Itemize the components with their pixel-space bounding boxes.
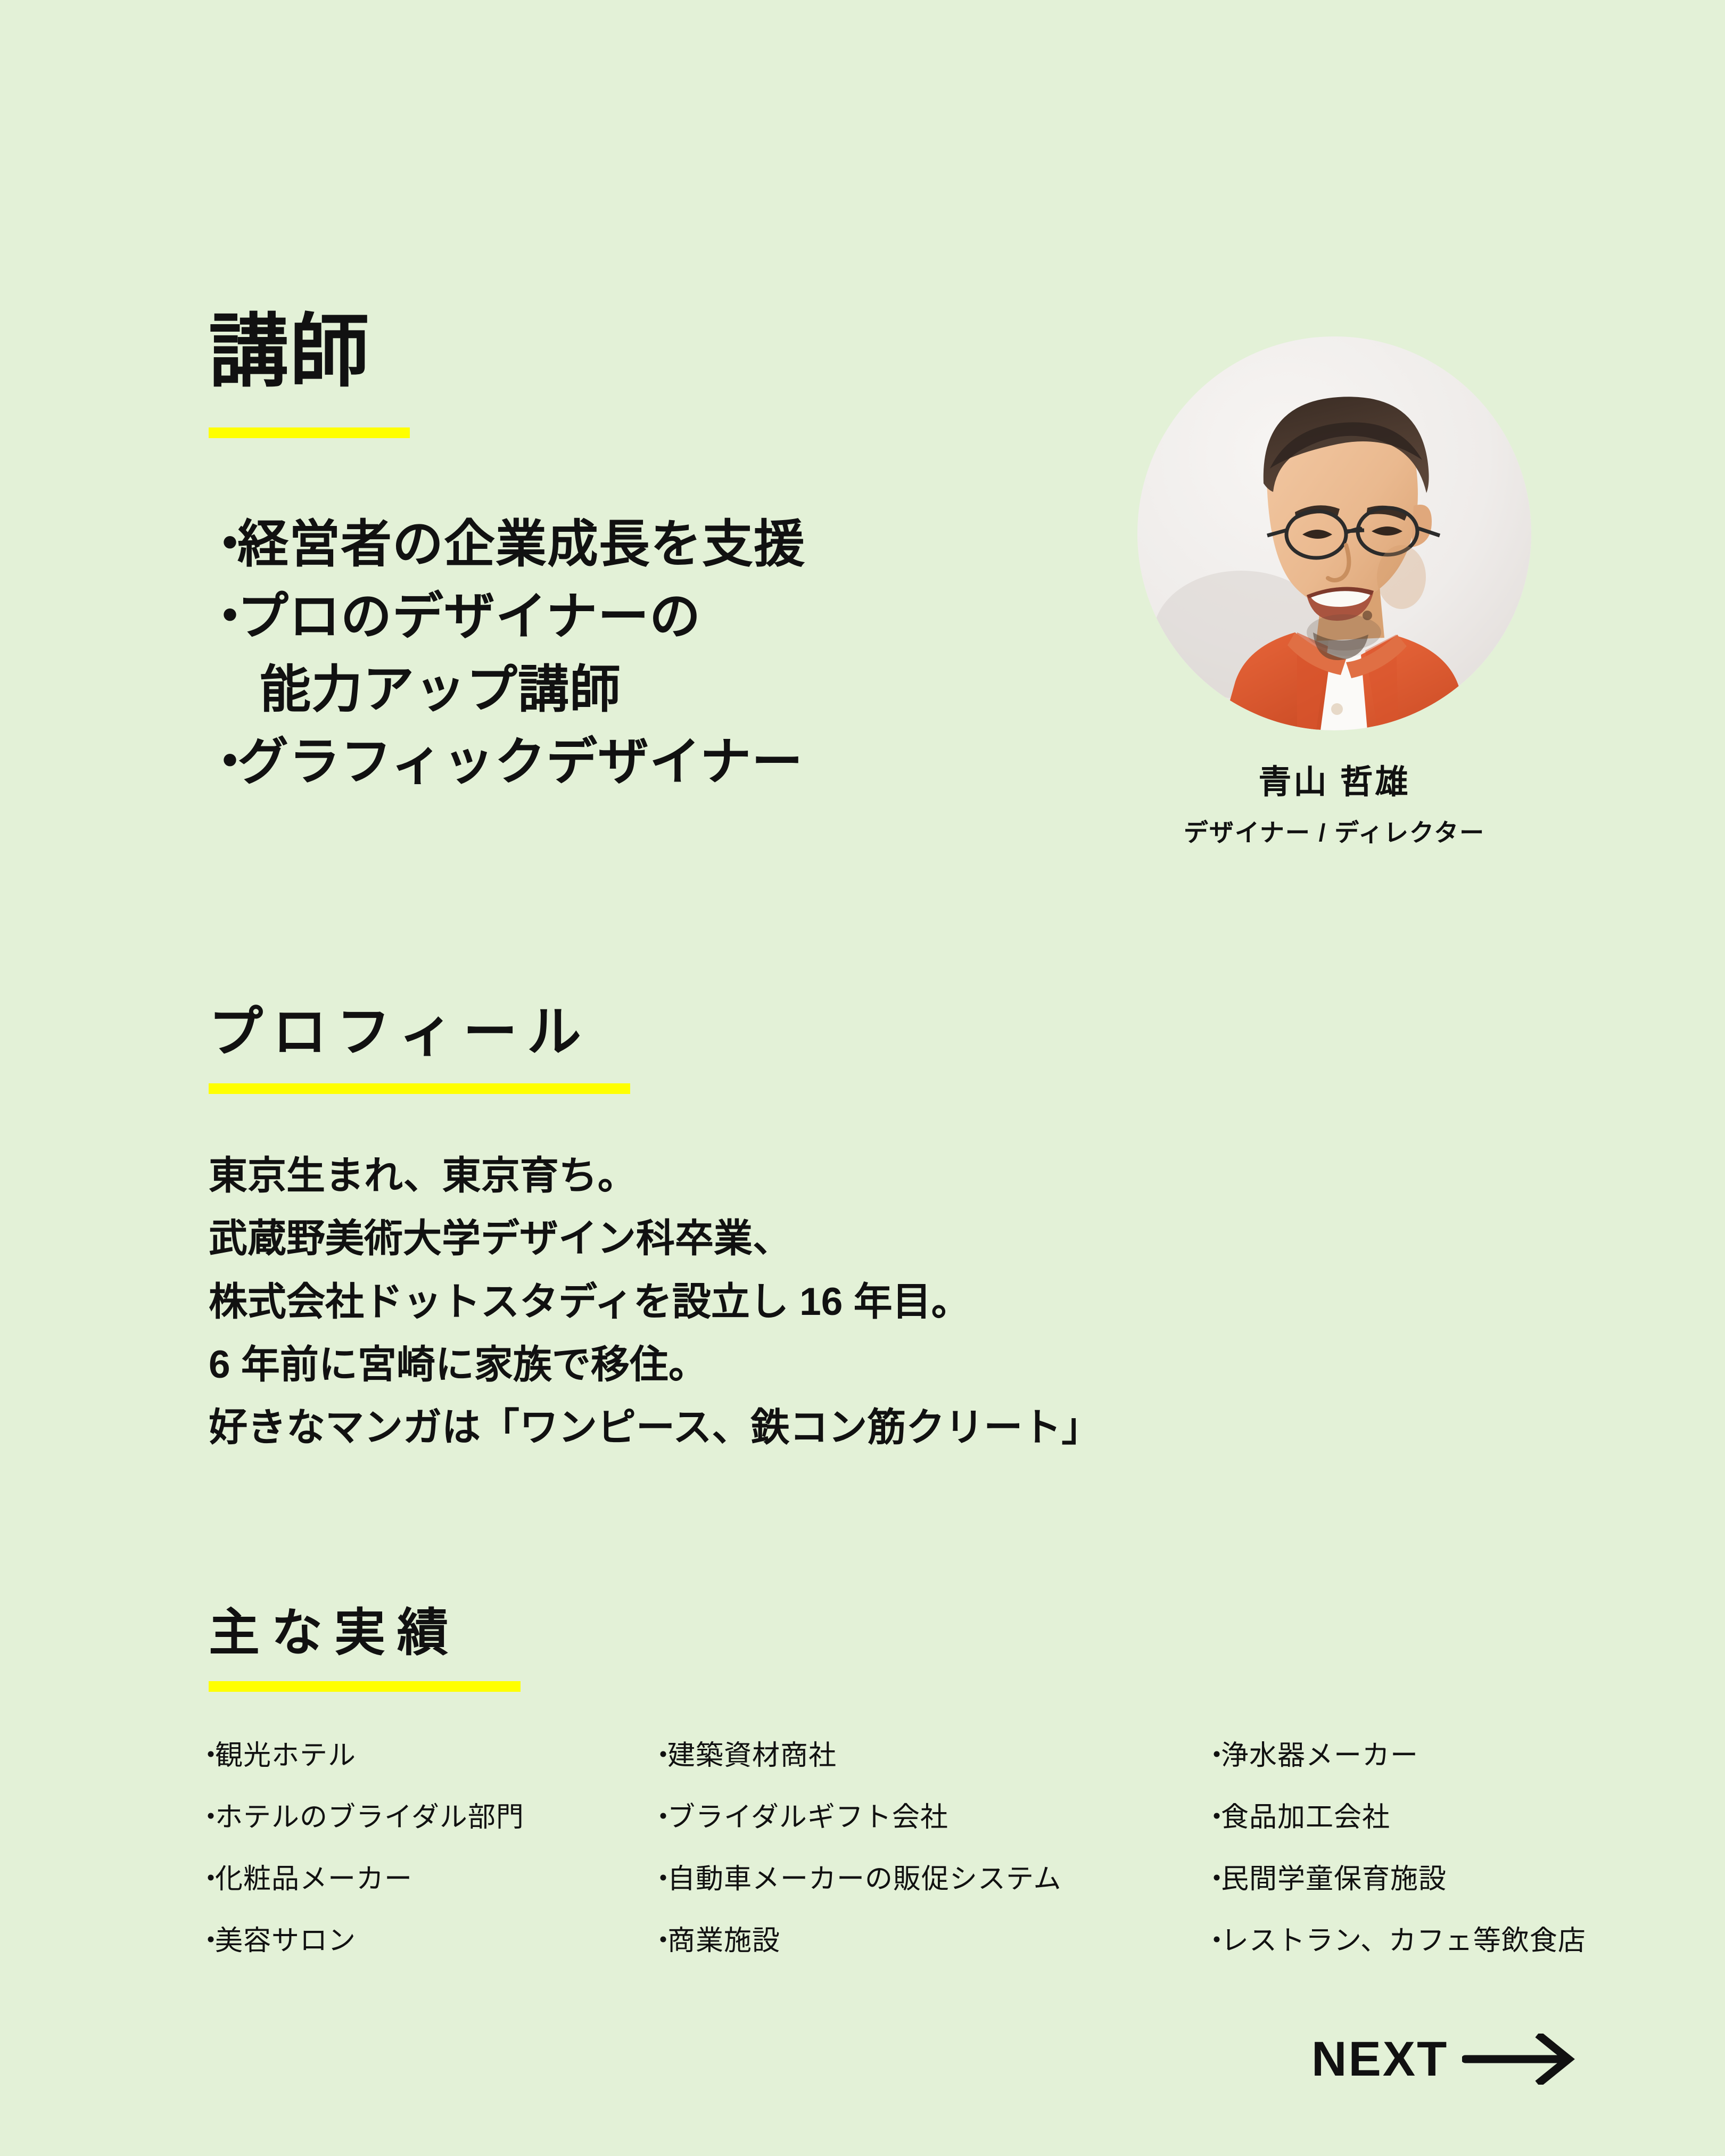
profile-heading: プロフィール	[209, 1005, 630, 1094]
list-item: ・ 観光ホテル	[197, 1742, 649, 1770]
bullet-icon: ・	[649, 1865, 667, 1893]
bullet-icon: ・	[204, 581, 237, 653]
lecturer-heading-underline	[209, 427, 410, 438]
bullet-icon: ・	[204, 508, 237, 581]
list-item: ・ ブライダルギフト会社	[649, 1804, 1203, 1831]
bullet-icon: ・	[649, 1804, 667, 1831]
list-item: ・ 浄水器メーカー	[1203, 1742, 1703, 1770]
next-button[interactable]: NEXT	[1311, 2034, 1579, 2085]
lecturer-point-row: ・ グラフィックデザイナー	[204, 726, 1109, 799]
portrait-photo-icon	[1137, 336, 1531, 730]
profile-heading-label: プロフィール	[209, 1005, 630, 1059]
work-item-label: 食品加工会社	[1221, 1804, 1390, 1831]
list-item: ・ 建築資材商社	[649, 1742, 1203, 1770]
work-item-label: 自動車メーカーの販促システム	[667, 1865, 1061, 1893]
lecturer-point-label: グラフィックデザイナー	[237, 726, 803, 799]
lecturer-point-row: ・ 経営者の企業成長を支援	[204, 508, 1109, 581]
list-item: ・ 商業施設	[649, 1927, 1203, 1955]
bullet-icon: ・	[649, 1742, 667, 1770]
work-item-label: 商業施設	[667, 1927, 780, 1955]
list-item: ・ 自動車メーカーの販促システム	[649, 1865, 1203, 1893]
works-column: ・ 観光ホテル ・ ホテルのブライダル部門 ・ 化粧品メーカー ・ 美容サロン	[197, 1742, 649, 1989]
list-item: ・ 食品加工会社	[1203, 1804, 1703, 1831]
list-item: ・ レストラン、カフェ等飲食店	[1203, 1927, 1703, 1955]
portrait-name: 青山 哲雄	[1124, 755, 1545, 803]
profile-line: 6 年前に宮崎に家族で移住。	[209, 1334, 1433, 1396]
list-item: ・ 民間学童保育施設	[1203, 1865, 1703, 1893]
work-item-label: 美容サロン	[215, 1927, 356, 1955]
work-item-label: レストラン、カフェ等飲食店	[1221, 1927, 1586, 1955]
profile-line: 東京生まれ、東京育ち。	[209, 1145, 1433, 1207]
profile-body: 東京生まれ、東京育ち。 武蔵野美術大学デザイン科卒業、 株式会社ドットスタディを…	[209, 1145, 1433, 1459]
slide-root: 講師 ・ 経営者の企業成長を支援 ・ プロのデザイナーの ・ 能力アップ講師 ・…	[0, 0, 1725, 2156]
profile-line: 好きなマンガは「ワンピース、鉄コン筋クリート」	[209, 1396, 1433, 1459]
work-item-label: 浄水器メーカー	[1221, 1742, 1418, 1770]
next-button-label: NEXT	[1311, 2035, 1448, 2084]
works-heading: 主な実績	[209, 1608, 521, 1692]
lecturer-heading-label: 講師	[209, 311, 410, 391]
bullet-icon: ・	[204, 726, 237, 799]
list-item: ・ 美容サロン	[197, 1927, 649, 1955]
works-column: ・ 浄水器メーカー ・ 食品加工会社 ・ 民間学童保育施設 ・ レストラン、カフ…	[1203, 1742, 1703, 1989]
bullet-icon: ・	[1203, 1927, 1221, 1955]
profile-line: 株式会社ドットスタディを設立し 16 年目。	[209, 1271, 1433, 1334]
list-item: ・ ホテルのブライダル部門	[197, 1804, 649, 1831]
works-heading-label: 主な実績	[209, 1608, 521, 1659]
profile-line: 武蔵野美術大学デザイン科卒業、	[209, 1207, 1433, 1270]
profile-heading-underline	[209, 1083, 630, 1094]
work-item-label: 民間学童保育施設	[1221, 1865, 1447, 1893]
lecturer-point-label: プロのデザイナーの	[237, 581, 701, 653]
lecturer-heading: 講師	[209, 311, 410, 438]
bullet-icon: ・	[197, 1804, 215, 1831]
bullet-icon: ・	[1203, 1804, 1221, 1831]
works-column: ・ 建築資材商社 ・ ブライダルギフト会社 ・ 自動車メーカーの販促システム ・…	[649, 1742, 1203, 1989]
arrow-right-icon	[1462, 2034, 1579, 2085]
work-item-label: ホテルのブライダル部門	[215, 1804, 524, 1831]
lecturer-point-label: 能力アップ講師	[237, 654, 621, 726]
lecturer-point-row: ・ 能力アップ講師	[204, 654, 1109, 726]
bullet-icon: ・	[649, 1927, 667, 1955]
bullet-icon: ・	[197, 1865, 215, 1893]
lecturer-point-row: ・ プロのデザイナーの	[204, 581, 1109, 653]
work-item-label: 化粧品メーカー	[215, 1865, 412, 1893]
works-columns: ・ 観光ホテル ・ ホテルのブライダル部門 ・ 化粧品メーカー ・ 美容サロン …	[197, 1742, 1703, 1989]
work-item-label: 建築資材商社	[667, 1742, 837, 1770]
work-item-label: ブライダルギフト会社	[667, 1804, 948, 1831]
bullet-icon: ・	[1203, 1742, 1221, 1770]
bullet-icon: ・	[197, 1927, 215, 1955]
list-item: ・ 化粧品メーカー	[197, 1865, 649, 1893]
portrait-block: 青山 哲雄 デザイナー / ディレクター	[1124, 336, 1545, 849]
avatar	[1137, 336, 1531, 730]
bullet-icon: ・	[1203, 1865, 1221, 1893]
work-item-label: 観光ホテル	[215, 1742, 356, 1770]
portrait-role: デザイナー / ディレクター	[1124, 813, 1545, 849]
works-heading-underline	[209, 1681, 521, 1692]
lecturer-points-list: ・ 経営者の企業成長を支援 ・ プロのデザイナーの ・ 能力アップ講師 ・ グラ…	[204, 508, 1109, 799]
lecturer-point-label: 経営者の企業成長を支援	[237, 508, 805, 581]
bullet-icon: ・	[197, 1742, 215, 1770]
